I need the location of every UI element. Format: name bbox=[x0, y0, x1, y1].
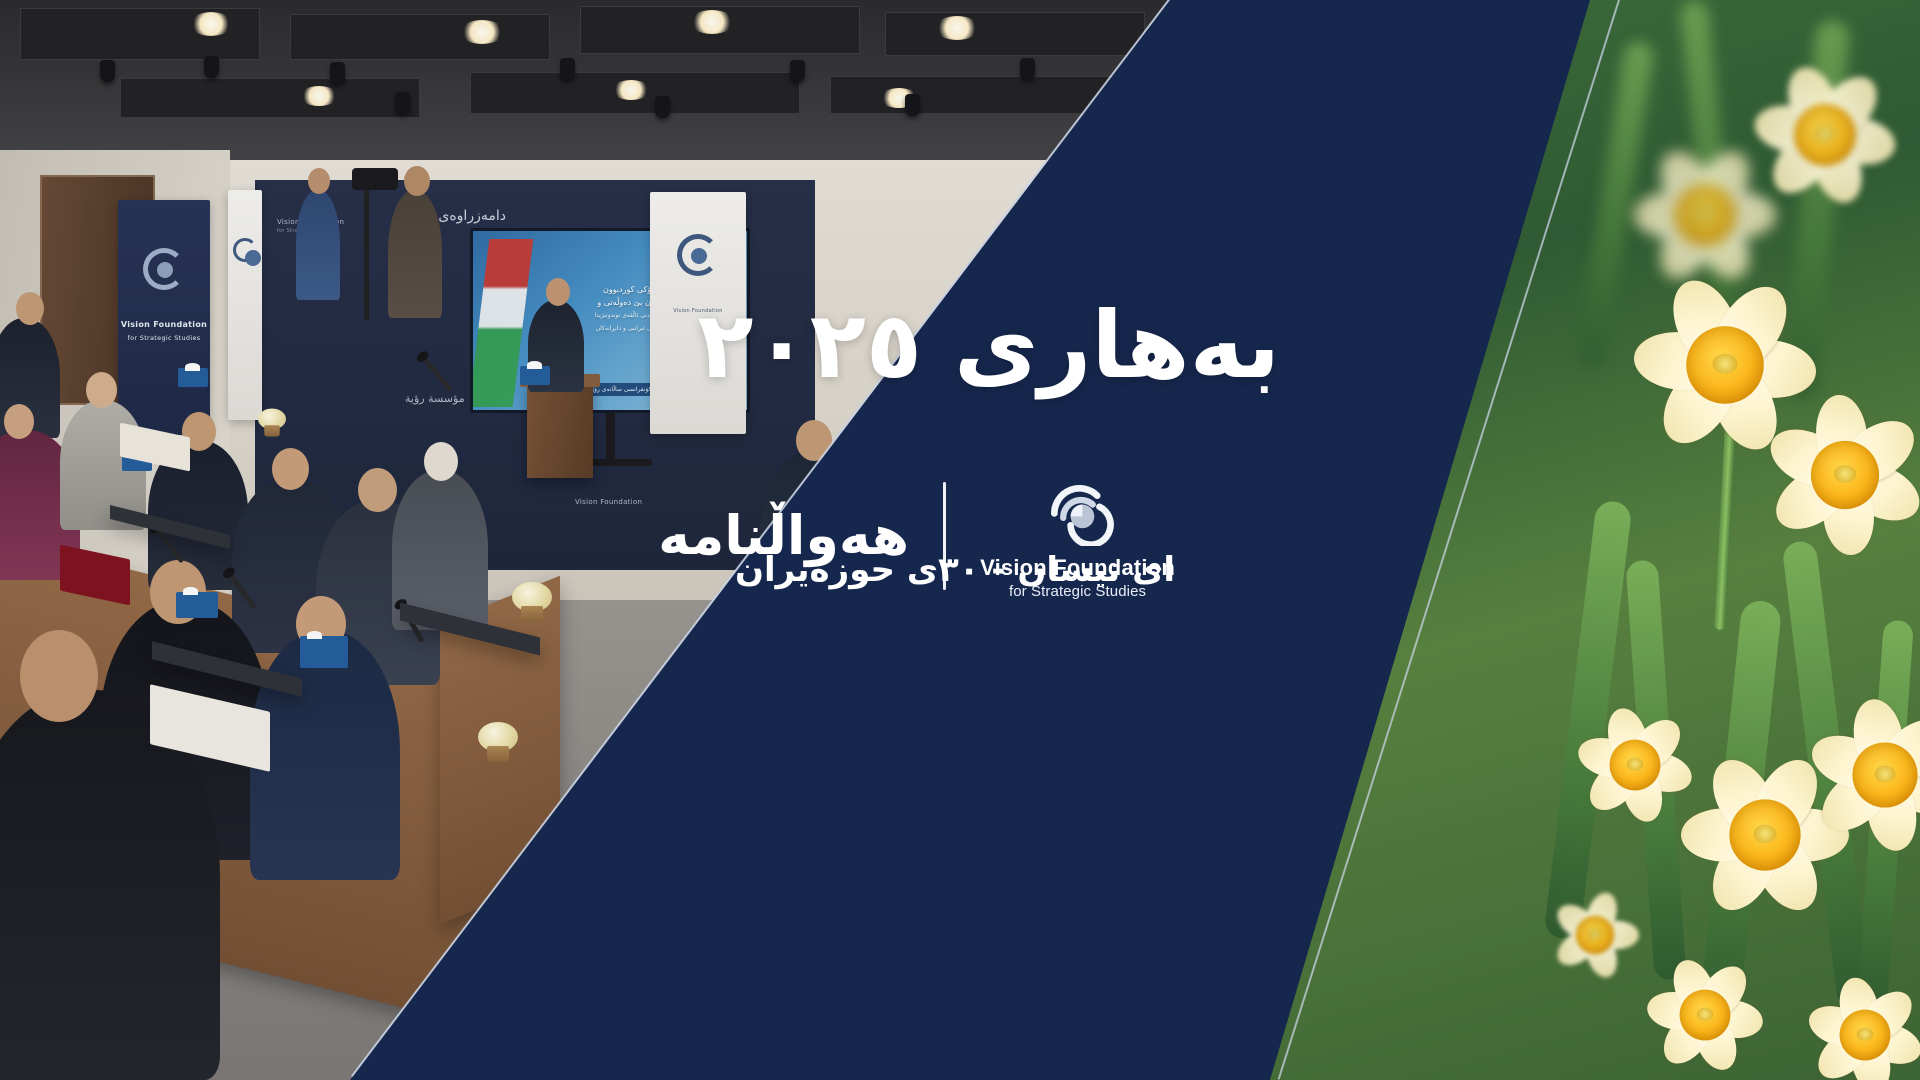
vision-spiral-eye-icon bbox=[1041, 472, 1115, 546]
banner-date-range: ای نیسان - ٣٠ی حوزەیران bbox=[755, 548, 1175, 592]
banner-content: بەهاری ٢٠٢٥ هەواڵنامە Vision Foundation bbox=[0, 0, 1920, 1080]
banner-canvas: Vision Foundation for Strategic Studies … bbox=[0, 0, 1920, 1080]
banner-main-title: بەهاری ٢٠٢٥ bbox=[540, 292, 1280, 401]
